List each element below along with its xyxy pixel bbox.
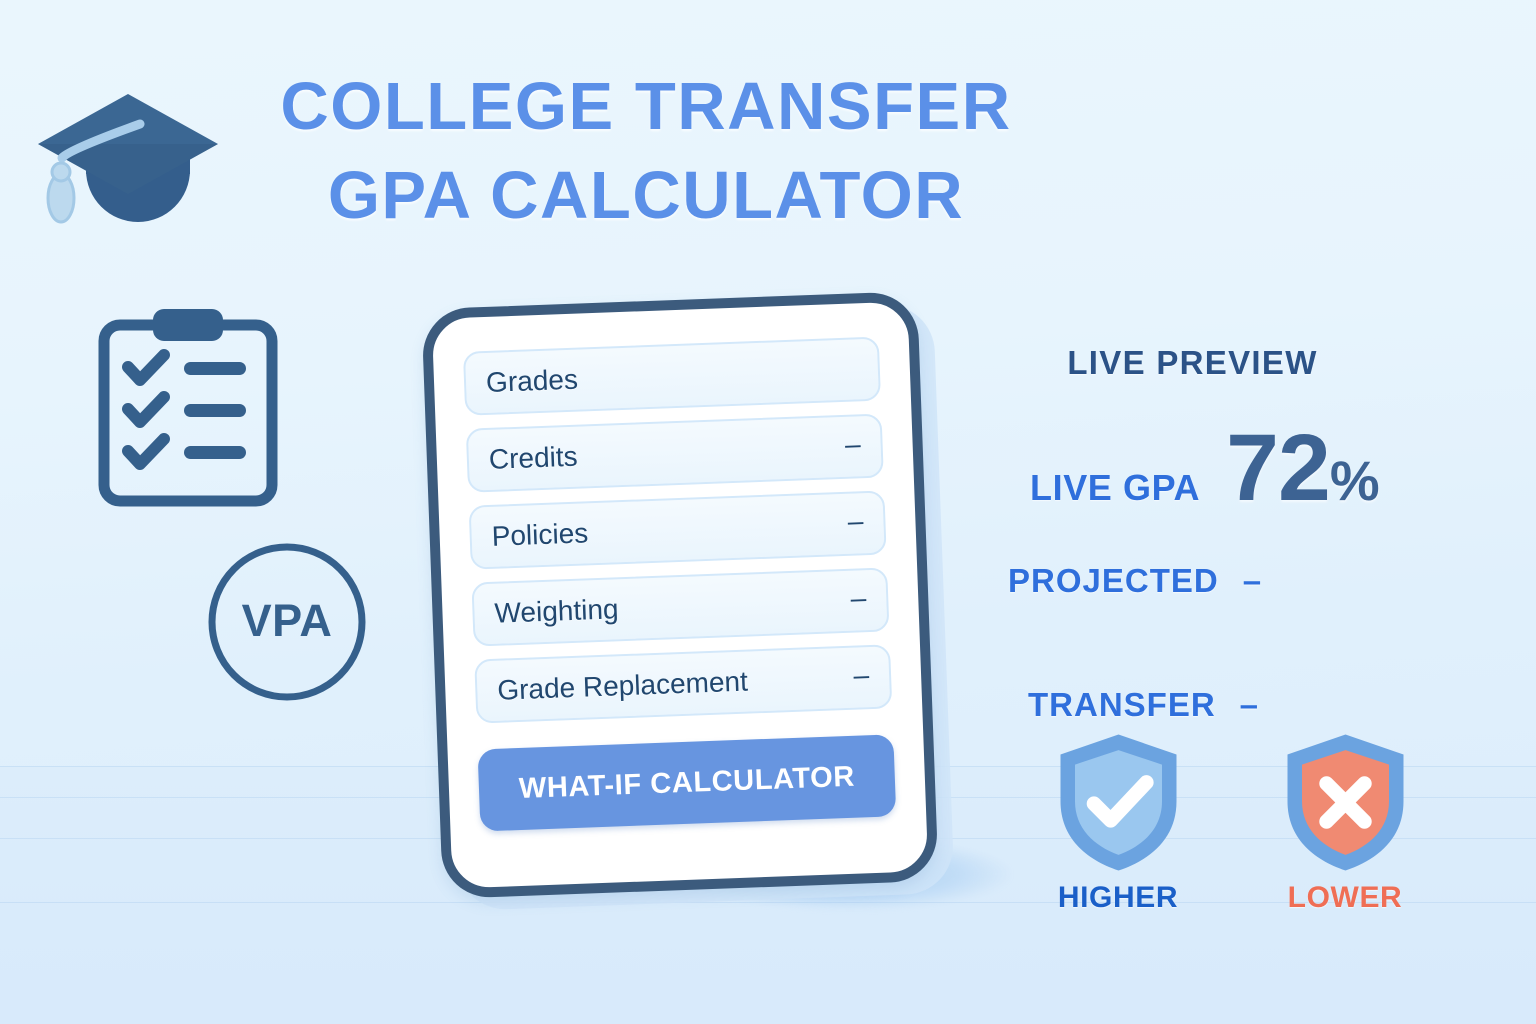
projected-gpa-label: PROJECTED (1008, 562, 1219, 600)
list-item-weighting[interactable]: Weighting – (471, 567, 889, 646)
clipboard-checklist-icon (98, 305, 278, 510)
list-item-value: – (850, 584, 867, 617)
live-gpa-value: 72 (1226, 426, 1330, 512)
list-item-label: Grades (486, 364, 579, 399)
projected-gpa-value: – (1243, 562, 1262, 600)
live-gpa-unit: % (1330, 448, 1380, 513)
list-item-label: Credits (488, 441, 578, 476)
shield-higher-group: HIGHER (1038, 730, 1198, 915)
list-item-policies[interactable]: Policies – (469, 490, 887, 569)
graduation-cap-icon (28, 72, 228, 232)
list-item-label: Grade Replacement (497, 666, 749, 707)
shield-cross-icon (1273, 730, 1418, 875)
list-item-value: – (853, 661, 870, 694)
calculator-card: Grades Credits – Policies – Weighting – … (421, 291, 938, 899)
page-title: COLLEGE TRANSFER GPA CALCULATOR (236, 62, 1056, 240)
shield-higher-caption: HIGHER (1038, 881, 1198, 915)
transfer-gpa-value: – (1240, 686, 1259, 724)
live-gpa-label: LIVE GPA (1030, 467, 1200, 509)
header: COLLEGE TRANSFER GPA CALCULATOR (0, 62, 1060, 282)
what-if-calculator-label: WHAT-IF CALCULATOR (518, 760, 855, 805)
live-preview-panel: LIVE PREVIEW LIVE GPA 72 % PROJECTED – T… (980, 330, 1510, 930)
shield-check-icon (1046, 730, 1191, 875)
shield-lower-caption: LOWER (1265, 881, 1425, 915)
list-item-label: Weighting (494, 593, 619, 630)
live-gpa-row: LIVE GPA 72 % (1030, 426, 1510, 513)
shield-lower-group: LOWER (1265, 730, 1425, 915)
projected-gpa-row: PROJECTED – (1008, 562, 1262, 600)
transfer-gpa-label: TRANSFER (1028, 686, 1216, 724)
transfer-gpa-row: TRANSFER – (1028, 686, 1259, 724)
title-line-1: COLLEGE TRANSFER (236, 62, 1056, 151)
list-item-grades[interactable]: Grades (463, 337, 881, 416)
live-preview-heading: LIVE PREVIEW (980, 344, 1405, 382)
list-item-value: – (847, 507, 864, 540)
vpa-badge: VPA (205, 540, 369, 704)
list-item-value: – (845, 430, 862, 463)
list-item-grade-replacement[interactable]: Grade Replacement – (474, 644, 892, 723)
what-if-calculator-button[interactable]: WHAT-IF CALCULATOR (478, 734, 897, 831)
vpa-badge-label: VPA (205, 540, 369, 704)
list-item-label: Policies (491, 517, 589, 553)
list-item-credits[interactable]: Credits – (466, 413, 884, 492)
title-line-2: GPA CALCULATOR (236, 151, 1056, 240)
